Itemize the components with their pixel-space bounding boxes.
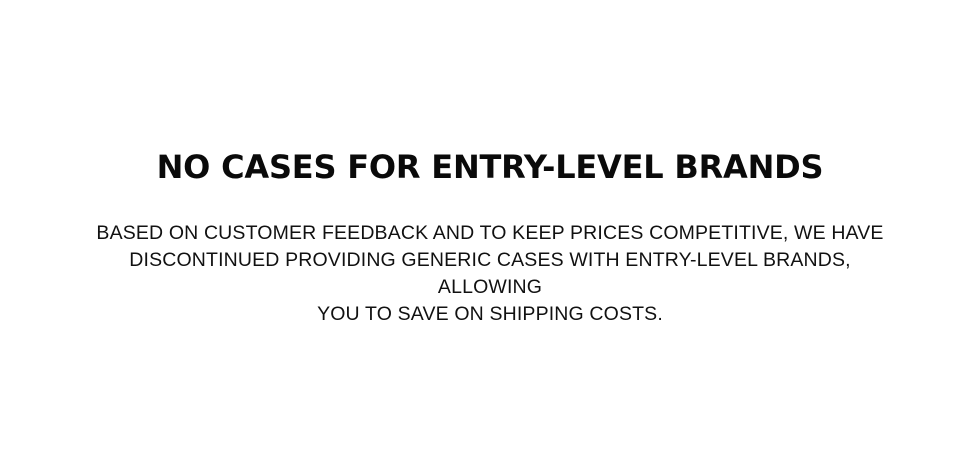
notice-body-line-3: YOU TO SAVE ON SHIPPING COSTS. (85, 301, 895, 328)
notice-content-wrapper: NO CASES FOR ENTRY-LEVEL BRANDS BASED ON… (85, 150, 895, 328)
policy-notice-section: NO CASES FOR ENTRY-LEVEL BRANDS BASED ON… (0, 0, 980, 450)
notice-heading: NO CASES FOR ENTRY-LEVEL BRANDS (85, 150, 895, 184)
notice-body-line-1: BASED ON CUSTOMER FEEDBACK AND TO KEEP P… (85, 220, 895, 247)
notice-body-line-2: DISCONTINUED PROVIDING GENERIC CASES WIT… (85, 247, 895, 301)
notice-body-text: BASED ON CUSTOMER FEEDBACK AND TO KEEP P… (85, 184, 895, 328)
